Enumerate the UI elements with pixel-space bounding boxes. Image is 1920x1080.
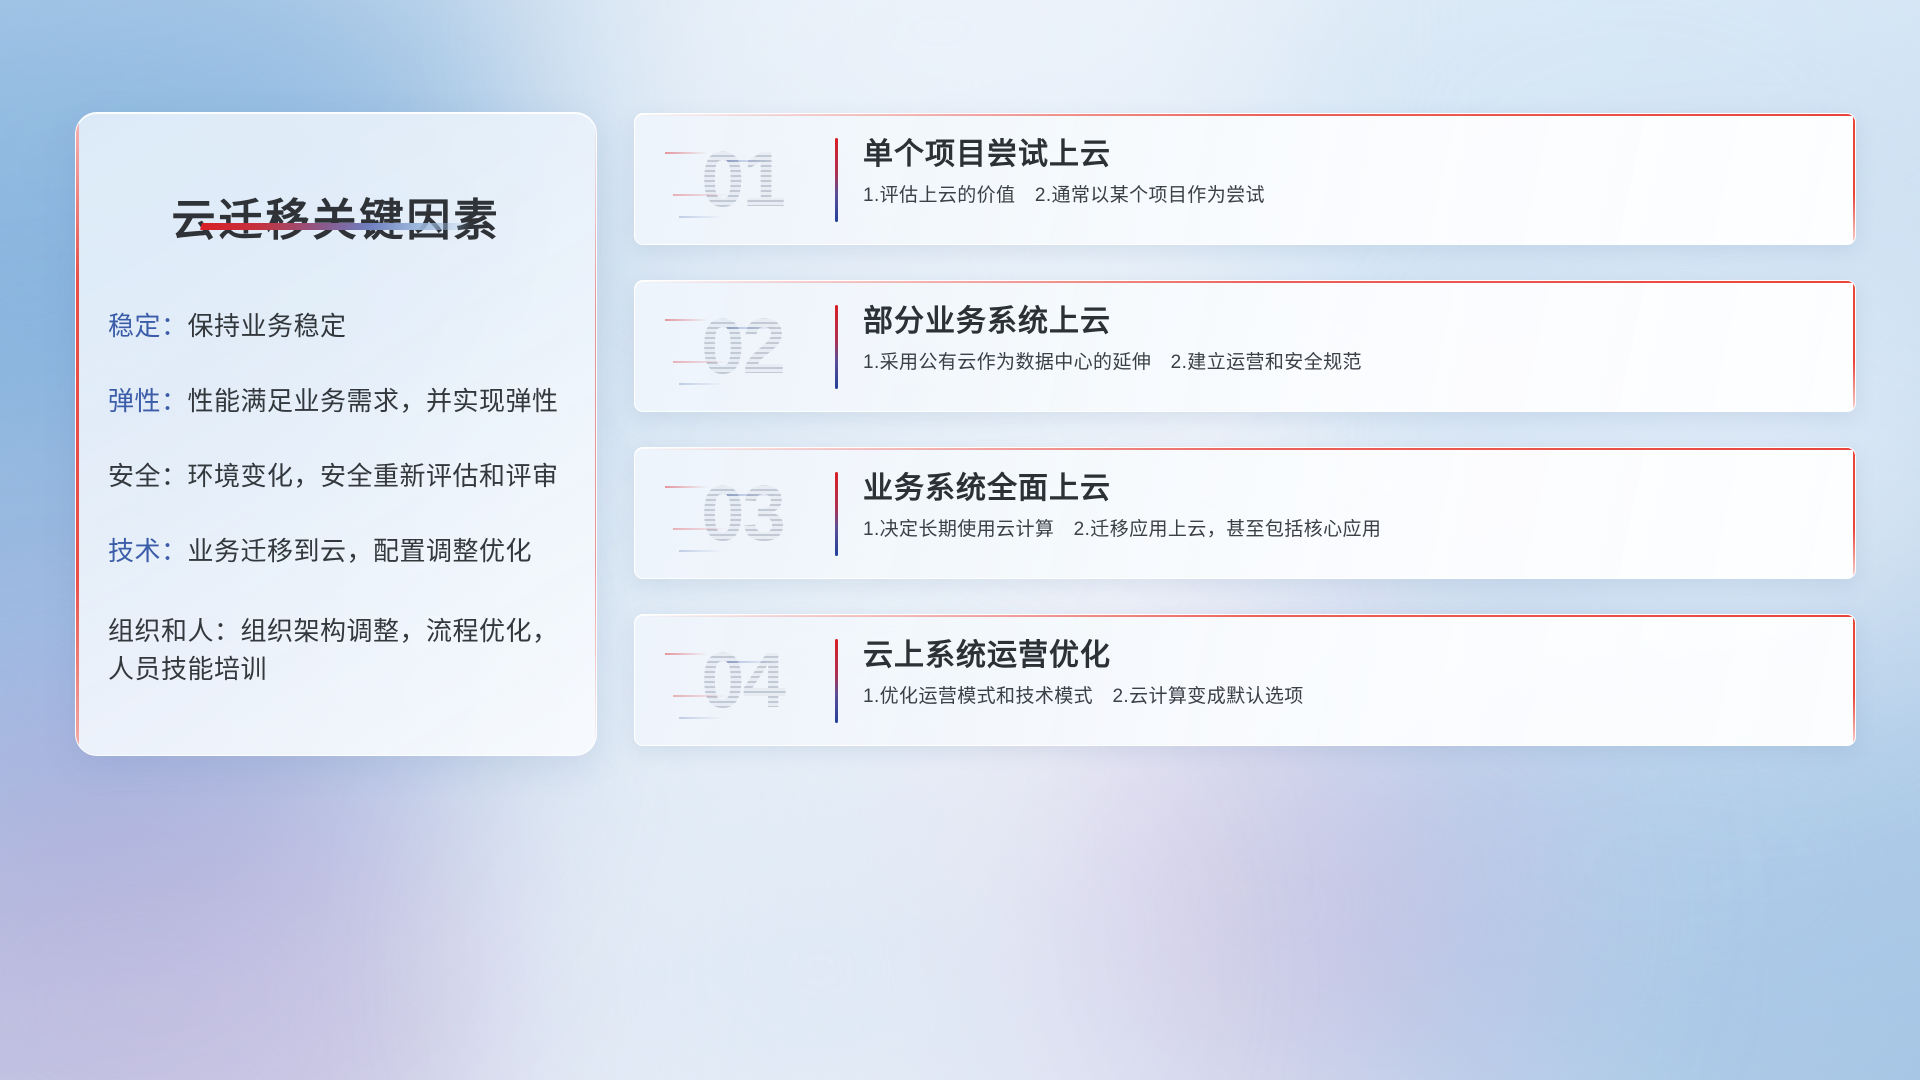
card-body: 业务系统全面上云1.决定长期使用云计算 2.迁移应用上云，甚至包括核心应用 <box>863 470 1815 542</box>
card-divider-accent <box>835 639 838 723</box>
factor-label: 组织和人： <box>108 616 241 646</box>
stage-number: 03 <box>665 464 820 562</box>
factor-label: 安全： <box>108 461 188 491</box>
factor-item: 稳定：保持业务稳定 <box>108 313 572 339</box>
stage-card[interactable]: 01单个项目尝试上云1.评估上云的价值 2.通常以某个项目作为尝试 <box>634 113 1856 245</box>
stage-card[interactable]: 02部分业务系统上云1.采用公有云作为数据中心的延伸 2.建立运营和安全规范 <box>634 280 1856 412</box>
slide-stage: 云迁移关键因素 稳定：保持业务稳定弹性：性能满足业务需求，并实现弹性安全：环境变… <box>0 0 1920 1080</box>
key-factors-panel: 云迁移关键因素 稳定：保持业务稳定弹性：性能满足业务需求，并实现弹性安全：环境变… <box>75 112 597 756</box>
card-title: 云上系统运营优化 <box>863 637 1815 675</box>
factor-value: 性能满足业务需求，并实现弹性 <box>188 386 559 416</box>
card-body: 单个项目尝试上云1.评估上云的价值 2.通常以某个项目作为尝试 <box>863 136 1815 208</box>
key-factors-list: 稳定：保持业务稳定弹性：性能满足业务需求，并实现弹性安全：环境变化，安全重新评估… <box>108 313 572 737</box>
card-description: 1.采用公有云作为数据中心的延伸 2.建立运营和安全规范 <box>863 351 1815 376</box>
card-description: 1.决定长期使用云计算 2.迁移应用上云，甚至包括核心应用 <box>863 518 1815 543</box>
stage-number: 02 <box>665 297 820 395</box>
card-title: 单个项目尝试上云 <box>863 136 1815 174</box>
card-body: 云上系统运营优化1.优化运营模式和技术模式 2.云计算变成默认选项 <box>863 637 1815 709</box>
factor-label: 技术： <box>108 536 188 566</box>
factor-label: 稳定： <box>108 311 188 341</box>
factor-label: 弹性： <box>108 386 188 416</box>
card-divider-accent <box>835 472 838 556</box>
stage-number: 01 <box>665 130 820 228</box>
stage-card[interactable]: 03业务系统全面上云1.决定长期使用云计算 2.迁移应用上云，甚至包括核心应用 <box>634 447 1856 579</box>
card-description: 1.评估上云的价值 2.通常以某个项目作为尝试 <box>863 184 1815 209</box>
page-title: 云迁移关键因素 <box>76 184 596 248</box>
factor-item: 技术：业务迁移到云，配置调整优化 <box>108 538 572 564</box>
stage-card-list: 01单个项目尝试上云1.评估上云的价值 2.通常以某个项目作为尝试02部分业务系… <box>634 113 1856 781</box>
factor-item: 安全：环境变化，安全重新评估和评审 <box>108 463 572 489</box>
factor-value: 保持业务稳定 <box>188 311 347 341</box>
stage-card[interactable]: 04云上系统运营优化1.优化运营模式和技术模式 2.云计算变成默认选项 <box>634 614 1856 746</box>
factor-item: 组织和人：组织架构调整，流程优化，人员技能培训 <box>108 613 572 688</box>
card-description: 1.优化运营模式和技术模式 2.云计算变成默认选项 <box>863 685 1815 710</box>
card-body: 部分业务系统上云1.采用公有云作为数据中心的延伸 2.建立运营和安全规范 <box>863 303 1815 375</box>
card-title: 部分业务系统上云 <box>863 303 1815 341</box>
factor-value: 环境变化，安全重新评估和评审 <box>188 461 559 491</box>
card-divider-accent <box>835 138 838 222</box>
card-title: 业务系统全面上云 <box>863 470 1815 508</box>
factor-value: 业务迁移到云，配置调整优化 <box>188 536 533 566</box>
stage-number: 04 <box>665 631 820 729</box>
title-underline-accent <box>200 223 472 230</box>
card-divider-accent <box>835 305 838 389</box>
factor-item: 弹性：性能满足业务需求，并实现弹性 <box>108 388 572 414</box>
